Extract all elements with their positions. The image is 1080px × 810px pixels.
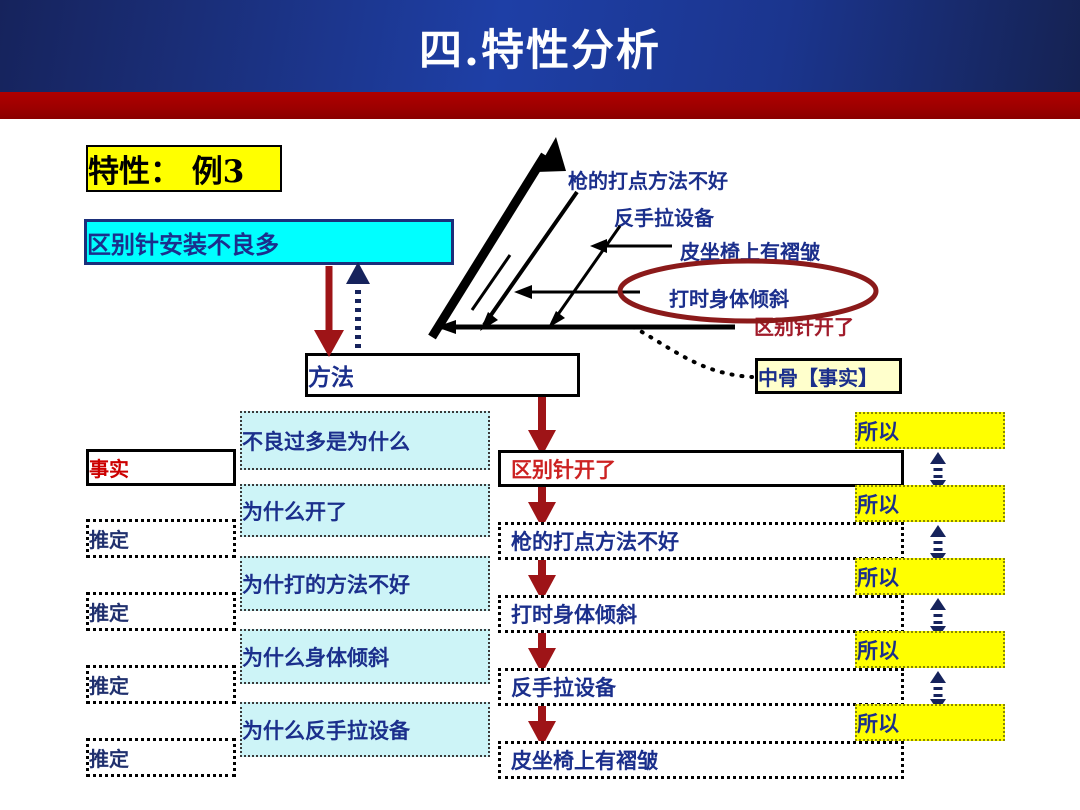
- left-col-label-0: 事实: [89, 453, 233, 482]
- fishbone-label-1: 枪的打点方法不好: [568, 165, 728, 194]
- why-box-2: 为什打的方法不好: [240, 556, 490, 611]
- fishbone-label-3: 皮坐椅上有褶皱: [680, 236, 820, 265]
- fishbone-mid-bone: [514, 285, 640, 299]
- statement-box-3: 反手拉设备: [498, 668, 904, 706]
- so-label-3: 所以: [857, 635, 1003, 665]
- why-label-1: 为什么开了: [242, 496, 488, 526]
- so-label-4: 所以: [857, 708, 1003, 738]
- statement-box-1: 枪的打点方法不好: [498, 522, 904, 560]
- striped-up-arrow: [346, 262, 370, 348]
- statement-label-1: 枪的打点方法不好: [511, 526, 901, 556]
- red-arrow-head-to-method: [314, 266, 344, 357]
- fishbone-upper-bone: [590, 239, 672, 253]
- statement-label-2: 打时身体倾斜: [511, 599, 901, 629]
- so-label-0: 所以: [857, 416, 1003, 446]
- so-label-2: 所以: [857, 562, 1003, 592]
- why-box-1: 为什么开了: [240, 484, 490, 537]
- why-label-3: 为什么身体倾斜: [242, 642, 488, 672]
- left-col-item-4: 推定: [86, 738, 236, 777]
- fishbone-branch-2: [548, 226, 620, 328]
- so-label-1: 所以: [857, 489, 1003, 519]
- so-box-2: 所以: [855, 558, 1005, 595]
- left-col-item-2: 推定: [86, 592, 236, 631]
- method-box: 方法: [305, 353, 580, 397]
- left-col-label-2: 推定: [89, 597, 233, 626]
- fishbone-label-2: 反手拉设备: [614, 202, 714, 231]
- fishbone-branch-1: [480, 192, 577, 331]
- why-label-2: 为什打的方法不好: [242, 569, 488, 599]
- why-box-3: 为什么身体倾斜: [240, 629, 490, 684]
- header-red-band: [0, 92, 1080, 119]
- why-label-0: 不良过多是为什么: [242, 426, 488, 456]
- statement-label-0: 区别针开了: [511, 454, 901, 484]
- statement-box-4: 皮坐椅上有褶皱: [498, 741, 904, 779]
- why-label-4: 为什么反手拉设备: [242, 715, 488, 745]
- characteristic-tag: 特性： 例3: [86, 145, 282, 192]
- so-box-3: 所以: [855, 631, 1005, 668]
- statement-box-0: 区别针开了: [498, 450, 904, 487]
- why-box-0: 不良过多是为什么: [240, 411, 490, 470]
- note-connector-curve: [633, 327, 752, 377]
- left-col-item-0: 事实: [86, 449, 236, 486]
- statement-label-4: 皮坐椅上有褶皱: [511, 745, 901, 775]
- so-box-1: 所以: [855, 485, 1005, 522]
- characteristic-tag-label: 特性： 例3: [88, 146, 280, 191]
- left-col-item-3: 推定: [86, 665, 236, 704]
- method-box-label: 方法: [308, 358, 577, 392]
- so-box-4: 所以: [855, 704, 1005, 741]
- left-col-label-1: 推定: [89, 524, 233, 553]
- fishbone-branch-3: [472, 255, 510, 310]
- middle-bone-note-box: 中骨【事实】: [755, 358, 902, 394]
- left-col-label-3: 推定: [89, 670, 233, 699]
- statement-label-3: 反手拉设备: [511, 672, 901, 702]
- page-title: 四.特性分析: [0, 16, 1080, 78]
- so-box-0: 所以: [855, 412, 1005, 449]
- problem-head-label: 区别针安装不良多: [87, 225, 451, 260]
- fishbone-circled-label: 打时身体倾斜: [669, 283, 789, 312]
- header-white-gap: [0, 119, 1080, 129]
- middle-bone-note-label: 中骨【事实】: [758, 362, 899, 391]
- statement-box-2: 打时身体倾斜: [498, 595, 904, 633]
- slide-root: 四.特性分析 特性： 例3 区别针安装不良多 方法 枪的打点方法不好 反手拉设备…: [0, 0, 1080, 810]
- fishbone-red-label: 区别针开了: [754, 311, 854, 340]
- left-col-item-1: 推定: [86, 519, 236, 558]
- left-col-label-4: 推定: [89, 743, 233, 772]
- problem-head-box: 区别针安装不良多: [84, 219, 454, 265]
- why-box-4: 为什么反手拉设备: [240, 702, 490, 757]
